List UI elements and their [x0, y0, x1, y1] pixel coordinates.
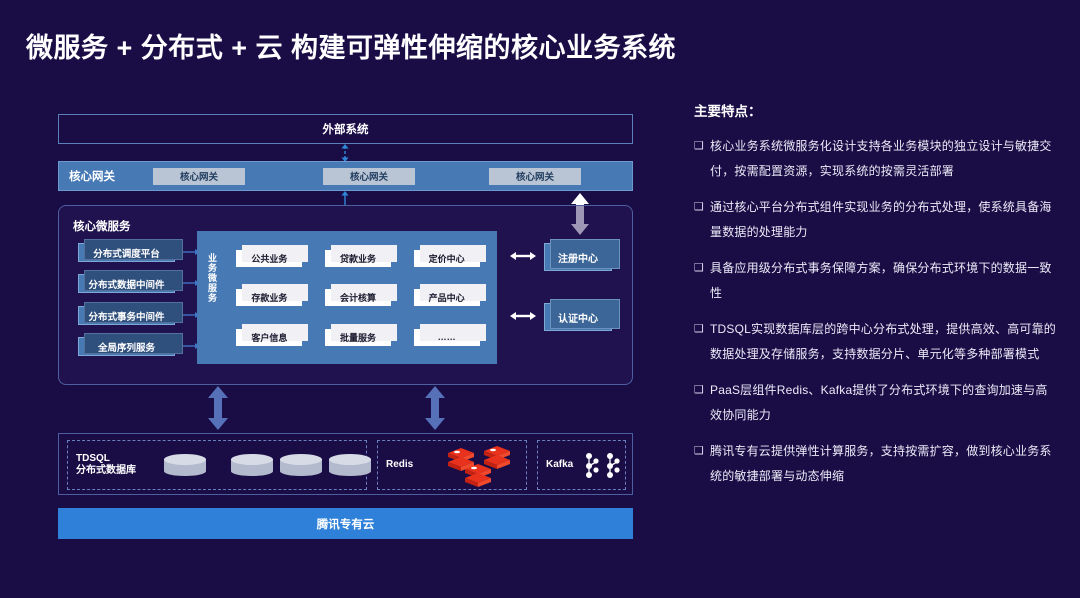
checkbox-bullet-icon: ❑ — [694, 134, 710, 184]
feature-item: ❑ 具备应用级分布式事务保障方案，确保分布式环境下的数据一致性 — [694, 256, 1056, 306]
service-label: 分布式事务中间件 — [88, 309, 164, 323]
business-card[interactable]: 贷款业务 — [325, 250, 391, 267]
registry-center-label: 注册中心 — [558, 250, 598, 265]
auth-center-box[interactable]: 认证中心 — [544, 303, 612, 331]
tdsql-label: TDSQL 分布式数据库 — [76, 453, 136, 477]
business-card-label: 会计核算 — [340, 291, 376, 304]
redis-cube-icon — [440, 446, 524, 488]
business-microservice-block: 业务微服务 公共业务 贷款业务 定价中心 存款业务 会计核算 产品中心 客户信息… — [197, 231, 497, 364]
feature-item: ❑ 核心业务系统微服务化设计支持各业务模块的独立设计与敏捷交付，按需配置资源，实… — [694, 134, 1056, 184]
gateway-instance-2: 核心网关 — [323, 168, 415, 185]
registry-center-box[interactable]: 注册中心 — [544, 243, 612, 271]
arrow-biz-registry — [510, 250, 536, 262]
checkbox-bullet-icon: ❑ — [694, 317, 710, 367]
feature-text: TDSQL实现数据库层的跨中心分布式处理，提供高效、高可靠的数据处理及存储服务，… — [710, 317, 1056, 367]
business-card-label: 存款业务 — [251, 291, 287, 304]
auth-center-label: 认证中心 — [558, 310, 598, 325]
business-card[interactable]: 会计核算 — [325, 289, 391, 306]
feature-text: 具备应用级分布式事务保障方案，确保分布式环境下的数据一致性 — [710, 256, 1056, 306]
business-card[interactable]: 公共业务 — [236, 250, 302, 267]
external-system-label: 外部系统 — [323, 121, 369, 137]
business-card-label: 产品中心 — [429, 291, 465, 304]
service-box-global-sequence[interactable]: 全局序列服务 — [78, 337, 175, 356]
database-cylinder-icon — [280, 454, 322, 479]
feature-text: 腾讯专有云提供弹性计算服务，支持按需扩容，做到核心业务系统的敏捷部署与动态伸缩 — [710, 439, 1056, 489]
gateway-instance-1: 核心网关 — [153, 168, 245, 185]
service-label: 全局序列服务 — [98, 340, 155, 354]
service-box-data-middleware[interactable]: 分布式数据中间件 — [78, 274, 175, 293]
core-gateway-label: 核心网关 — [69, 168, 147, 184]
business-card-label: …… — [438, 332, 456, 342]
redis-label: Redis — [386, 459, 413, 471]
kafka-box: Kafka — [537, 440, 626, 490]
business-card-label: 公共业务 — [251, 252, 287, 265]
feature-list-title: 主要特点： — [694, 100, 1056, 120]
business-card[interactable]: 产品中心 — [414, 289, 480, 306]
business-card[interactable]: 定价中心 — [414, 250, 480, 267]
business-card-label: 客户信息 — [251, 331, 287, 344]
gateway-instance-3: 核心网关 — [489, 168, 581, 185]
business-card[interactable]: 批量服务 — [325, 329, 391, 346]
business-card-grid: 公共业务 贷款业务 定价中心 存款业务 会计核算 产品中心 客户信息 批量服务 … — [225, 239, 491, 357]
checkbox-bullet-icon: ❑ — [694, 195, 710, 245]
feature-text: 通过核心平台分布式组件实现业务的分布式处理，使系统具备海量数据的处理能力 — [710, 195, 1056, 245]
core-microservice-label: 核心微服务 — [73, 218, 131, 234]
arrow-biz-auth — [510, 310, 536, 322]
tdsql-box: TDSQL 分布式数据库 — [67, 440, 367, 490]
redis-box: Redis — [377, 440, 527, 490]
service-label: 分布式数据中间件 — [88, 277, 164, 291]
arrow-core-data-right — [423, 386, 447, 430]
checkbox-bullet-icon: ❑ — [694, 256, 710, 306]
business-card-label: 定价中心 — [429, 252, 465, 265]
business-card[interactable]: …… — [414, 329, 480, 346]
data-layer-panel: TDSQL 分布式数据库 Redis — [58, 433, 633, 495]
arrow-external-gateway — [338, 144, 352, 162]
architecture-diagram: 外部系统 核心网关 核心网关 核心网关 核心网关 核心微服务 分布式调度平台 分… — [0, 0, 670, 598]
database-cylinder-icon — [329, 454, 371, 479]
tdsql-label-line2: 分布式数据库 — [76, 465, 136, 476]
feature-text: PaaS层组件Redis、Kafka提供了分布式环境下的查询加速与高效协同能力 — [710, 378, 1056, 428]
external-system-box: 外部系统 — [58, 114, 633, 144]
feature-item: ❑ TDSQL实现数据库层的跨中心分布式处理，提供高效、高可靠的数据处理及存储服… — [694, 317, 1056, 367]
database-cylinder-icon — [231, 454, 273, 479]
service-box-transaction-middleware[interactable]: 分布式事务中间件 — [78, 306, 175, 325]
arrow-core-data-left — [206, 386, 230, 430]
service-label: 分布式调度平台 — [93, 246, 160, 260]
checkbox-bullet-icon: ❑ — [694, 439, 710, 489]
feature-item: ❑ 腾讯专有云提供弹性计算服务，支持按需扩容，做到核心业务系统的敏捷部署与动态伸… — [694, 439, 1056, 489]
checkbox-bullet-icon: ❑ — [694, 378, 710, 428]
business-microservice-label: 业务微服务 — [202, 253, 218, 303]
feature-item: ❑ PaaS层组件Redis、Kafka提供了分布式环境下的查询加速与高效协同能… — [694, 378, 1056, 428]
tencent-cloud-bar: 腾讯专有云 — [58, 508, 633, 539]
service-box-scheduling[interactable]: 分布式调度平台 — [78, 243, 175, 262]
feature-list-panel: 主要特点： ❑ 核心业务系统微服务化设计支持各业务模块的独立设计与敏捷交付，按需… — [694, 100, 1056, 500]
kafka-cluster-icon — [582, 451, 624, 481]
business-card[interactable]: 客户信息 — [236, 329, 302, 346]
tencent-cloud-label: 腾讯专有云 — [317, 516, 375, 532]
business-card-label: 批量服务 — [340, 331, 376, 344]
database-cylinder-icon — [164, 454, 206, 479]
kafka-label: Kafka — [546, 459, 573, 471]
feature-item: ❑ 通过核心平台分布式组件实现业务的分布式处理，使系统具备海量数据的处理能力 — [694, 195, 1056, 245]
business-card-label: 贷款业务 — [340, 252, 376, 265]
tdsql-label-line1: TDSQL — [76, 453, 110, 464]
feature-text: 核心业务系统微服务化设计支持各业务模块的独立设计与敏捷交付，按需配置资源，实现系… — [710, 134, 1056, 184]
database-cylinder-group — [164, 454, 371, 479]
core-gateway-bar: 核心网关 核心网关 核心网关 核心网关 — [58, 161, 633, 191]
business-card[interactable]: 存款业务 — [236, 289, 302, 306]
